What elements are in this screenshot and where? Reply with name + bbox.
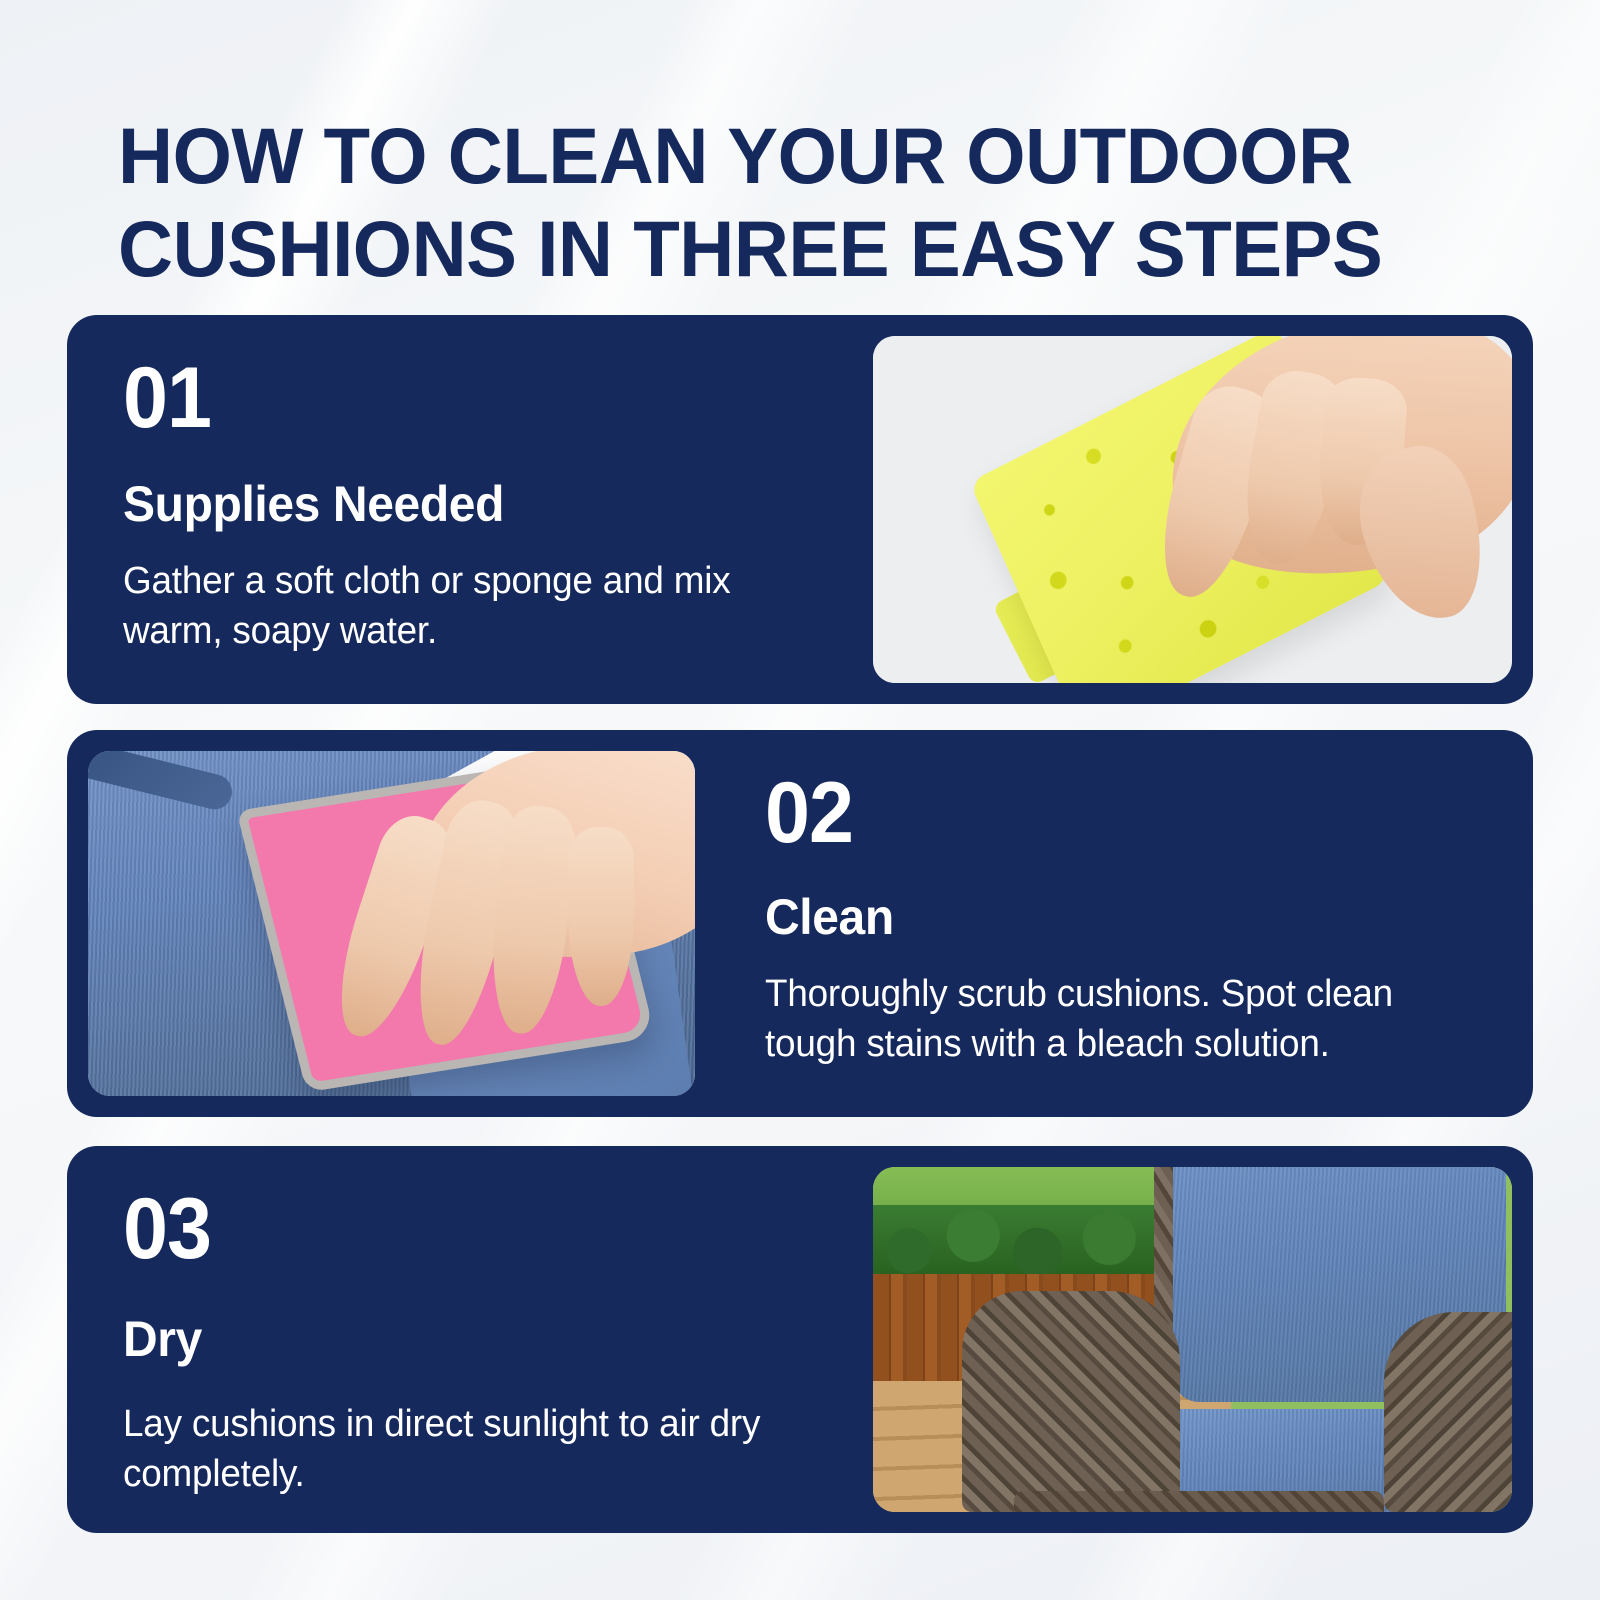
step-01-image-sponge (873, 336, 1512, 683)
step-03-text-block: 03 Dry Lay cushions in direct sunlight t… (67, 1146, 873, 1533)
sponge-photo-background (873, 336, 1512, 683)
step-01-title: Supplies Needed (123, 478, 801, 530)
page-title: HOW TO CLEAN YOUR OUTDOOR CUSHIONS IN TH… (118, 109, 1469, 295)
step-02-text-block: 02 Clean Thoroughly scrub cushions. Spot… (695, 730, 1533, 1117)
step-01-text-block: 01 Supplies Needed Gather a soft cloth o… (67, 315, 873, 704)
step-01-body: Gather a soft cloth or sponge and mix wa… (123, 556, 808, 658)
step-03-body: Lay cushions in direct sunlight to air d… (123, 1399, 808, 1501)
chair-wicker-base (1014, 1491, 1385, 1512)
step-02-title: Clean (765, 891, 1464, 943)
step-card-01: 01 Supplies Needed Gather a soft cloth o… (67, 315, 1533, 704)
chair-wicker-arm-left (962, 1291, 1179, 1512)
step-02-number: 02 (765, 772, 1449, 855)
infographic-canvas: HOW TO CLEAN YOUR OUTDOOR CUSHIONS IN TH… (0, 0, 1600, 1600)
step-03-number: 03 (123, 1188, 787, 1271)
step-02-image-cloth-on-cushion (88, 751, 695, 1096)
blue-cushion-background (88, 751, 695, 1096)
step-card-03: 03 Dry Lay cushions in direct sunlight t… (67, 1146, 1533, 1533)
step-02-body: Thoroughly scrub cushions. Spot clean to… (765, 969, 1471, 1071)
chair-wicker-arm-right (1384, 1312, 1512, 1512)
step-01-number: 01 (123, 357, 787, 440)
step-03-image-patio-chair (873, 1167, 1512, 1512)
cushion-seam (88, 751, 235, 812)
patio-photo-background (873, 1167, 1512, 1512)
step-03-title: Dry (123, 1313, 801, 1365)
hand-finger (568, 827, 635, 1006)
step-card-02: 02 Clean Thoroughly scrub cushions. Spot… (67, 730, 1533, 1117)
